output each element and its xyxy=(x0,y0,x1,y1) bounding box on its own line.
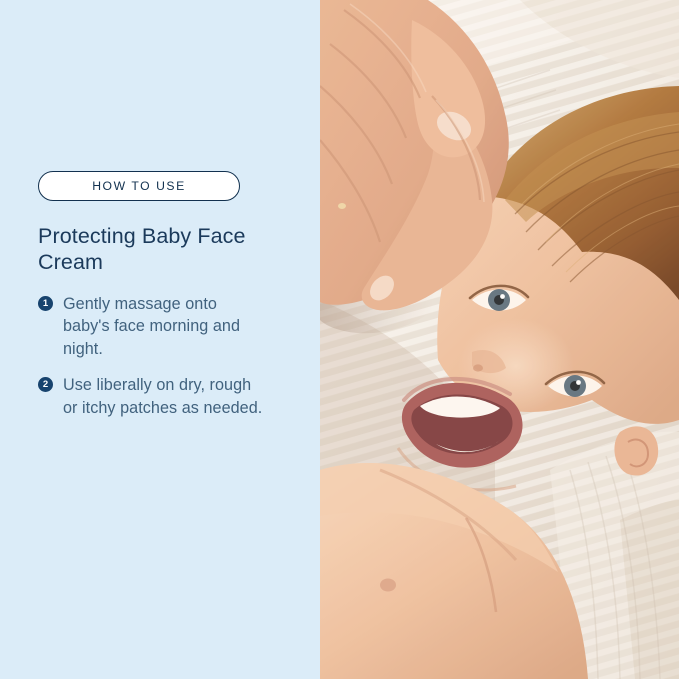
step-text: Gently massage onto baby's face morning … xyxy=(63,293,263,360)
product-lifestyle-photo xyxy=(320,0,679,679)
step-number-badge: 1 xyxy=(38,296,53,311)
how-to-use-panel: HOW TO USE Protecting Baby Face Cream 1 … xyxy=(0,0,679,679)
step-number-badge: 2 xyxy=(38,377,53,392)
usage-step: 1 Gently massage onto baby's face mornin… xyxy=(38,293,292,360)
usage-steps-list: 1 Gently massage onto baby's face mornin… xyxy=(38,293,292,419)
product-title: Protecting Baby Face Cream xyxy=(38,223,253,275)
how-to-use-badge: HOW TO USE xyxy=(38,171,240,201)
baby-photo-illustration xyxy=(320,0,679,679)
step-text: Use liberally on dry, rough or itchy pat… xyxy=(63,374,263,419)
usage-step: 2 Use liberally on dry, rough or itchy p… xyxy=(38,374,292,419)
photo-light-wash xyxy=(320,0,679,679)
instructions-content: HOW TO USE Protecting Baby Face Cream 1 … xyxy=(38,171,292,419)
instructions-panel: HOW TO USE Protecting Baby Face Cream 1 … xyxy=(0,0,320,679)
